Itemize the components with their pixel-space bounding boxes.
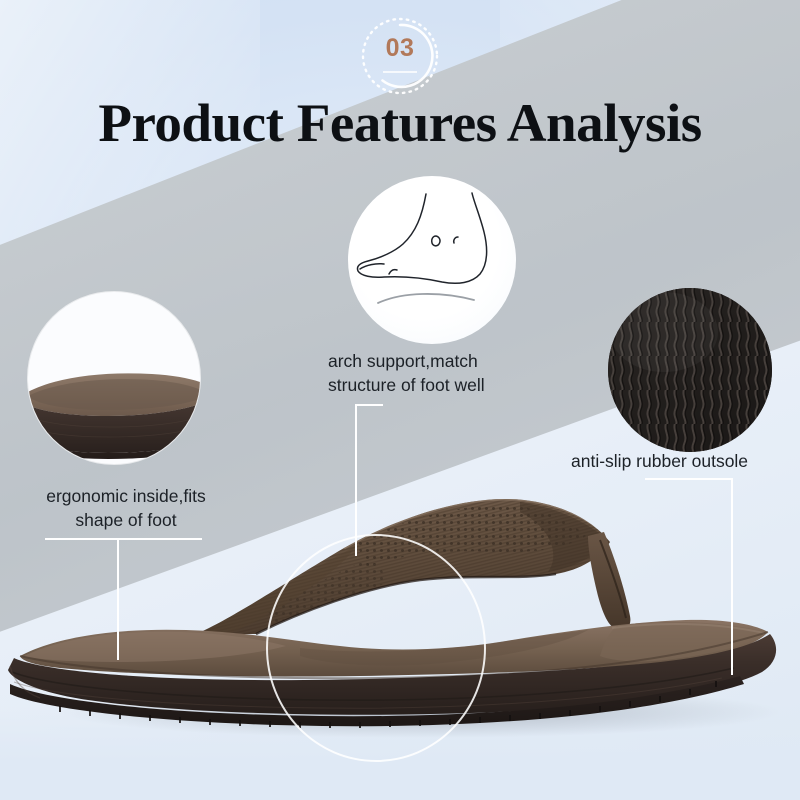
connector-outsole-horizontal (645, 478, 733, 480)
focus-highlight-ring (266, 534, 486, 762)
feature-image-arch (348, 176, 516, 344)
section-number-badge: 03 (358, 14, 442, 98)
connector-arch-vertical (355, 404, 357, 556)
feature-image-outsole (608, 288, 772, 452)
infographic-canvas: 03 Product Features Analysis (0, 0, 800, 800)
section-number-text: 03 (358, 34, 442, 63)
footbed-cross-section-photo (28, 354, 200, 462)
connector-ergonomic-vertical (117, 538, 119, 660)
sandal-toe-post (588, 532, 630, 630)
connector-arch-horizontal (355, 404, 383, 406)
connector-ergonomic-horizontal (45, 538, 202, 540)
feature-label-outsole: anti-slip rubber outsole (571, 449, 748, 473)
connector-outsole-vertical (731, 478, 733, 675)
rubber-tread-texture (608, 288, 772, 452)
feature-label-arch: arch support,match structure of foot wel… (328, 349, 485, 397)
feature-label-ergonomic: ergonomic inside,fits shape of foot (22, 484, 230, 532)
foot-profile-line-art (354, 190, 510, 330)
page-title: Product Features Analysis (0, 92, 800, 154)
feature-image-ergonomic (28, 292, 200, 464)
